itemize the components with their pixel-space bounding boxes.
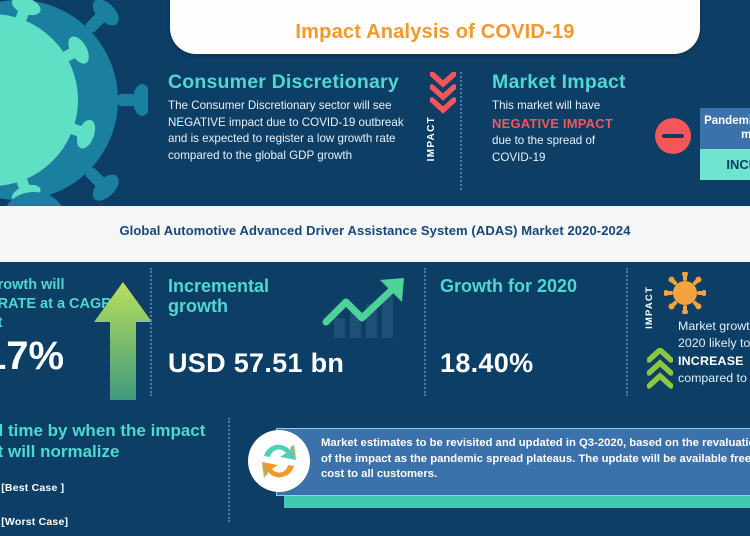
impact-indicator-negative: IMPACT — [424, 72, 460, 190]
cagr-value: 17% — [0, 334, 64, 379]
incremental-growth-label: Incremental growth — [168, 276, 318, 316]
refresh-arrows — [248, 430, 310, 492]
chevron-up-icon — [647, 348, 673, 390]
pandemic-badge-value: INCREASE — [700, 149, 750, 180]
chevron-down-icon — [430, 72, 456, 114]
incremental-growth-value: USD 57.51 bn — [168, 348, 344, 379]
right-note-emphasis: INCREASE — [678, 354, 744, 368]
market-title-band: Global Automotive Advanced Driver Assist… — [0, 206, 750, 262]
right-impact-note: Market growth in 2020 likely to INCREASE… — [678, 318, 750, 387]
date-worst-case-label: [Worst Case] — [1, 516, 68, 528]
top-impact-section: Consumer Discretionary The Consumer Disc… — [0, 58, 750, 206]
trend-up-icon — [318, 274, 418, 344]
growth-2020-value: 18.40% — [440, 348, 533, 379]
refresh-icon — [248, 430, 310, 492]
pandemic-impact-badge: Pandemic impact on market INCREASE — [700, 108, 750, 180]
bottom-section: Estimated time by when the impact on mar… — [0, 410, 750, 536]
title-plate: Impact Analysis of COVID-19 — [170, 0, 700, 54]
virus-icon-orange — [664, 272, 706, 314]
market-impact-block: Market Impact This market will have NEGA… — [492, 72, 642, 166]
note-block: Market estimates to be revisited and upd… — [248, 428, 750, 506]
right-note-line1: Market growth in — [678, 318, 750, 335]
divider-metrics-2 — [424, 268, 426, 396]
consumer-discretionary-block: Consumer Discretionary The Consumer Disc… — [168, 72, 420, 164]
market-impact-emphasis: NEGATIVE IMPACT — [492, 115, 642, 133]
right-note-line3: compared to 2019 — [678, 370, 750, 387]
note-card: Market estimates to be revisited and upd… — [276, 428, 750, 496]
divider-top-1 — [460, 72, 462, 190]
date-best-case: Q3-2021 [Best Case ] — [0, 475, 222, 497]
growth-2020-label: Growth for 2020 — [440, 276, 620, 296]
impact-label-vertical: IMPACT — [426, 116, 460, 161]
incremental-growth-block: Incremental growth — [168, 276, 318, 316]
pandemic-badge-title: Pandemic impact on market — [700, 108, 750, 149]
divider-metrics-1 — [150, 268, 152, 396]
consumer-discretionary-heading: Consumer Discretionary — [168, 72, 420, 93]
note-text: Market estimates to be revisited and upd… — [277, 429, 750, 483]
normalize-heading: Estimated time by when the impact on mar… — [0, 420, 222, 463]
consumer-discretionary-body: The Consumer Discretionary sector will s… — [168, 98, 420, 164]
market-impact-line2: due to the spread of — [492, 133, 642, 149]
growth-2020-block: Growth for 2020 — [440, 276, 620, 296]
infographic-canvas: Impact Analysis of COVID-19 Consumer Dis… — [0, 0, 750, 536]
metrics-section: Market growth will ACCELERATE at a CAGR … — [0, 262, 750, 410]
divider-bottom-1 — [228, 418, 230, 522]
market-impact-heading: Market Impact — [492, 72, 642, 93]
date-worst-case: Q1-2022 [Worst Case] — [0, 509, 222, 531]
market-title: Global Automotive Advanced Driver Assist… — [0, 223, 750, 238]
up-arrow-icon — [92, 280, 154, 402]
market-impact-line3: COVID-19 — [492, 150, 642, 166]
divider-metrics-3 — [626, 268, 628, 396]
date-best-case-label: [Best Case ] — [1, 482, 64, 494]
normalize-block: Estimated time by when the impact on mar… — [0, 420, 222, 531]
minus-circle-icon — [655, 118, 691, 154]
market-impact-line1: This market will have — [492, 98, 642, 114]
right-note-line2: 2020 likely to — [678, 335, 750, 352]
page-title: Impact Analysis of COVID-19 — [170, 21, 700, 44]
